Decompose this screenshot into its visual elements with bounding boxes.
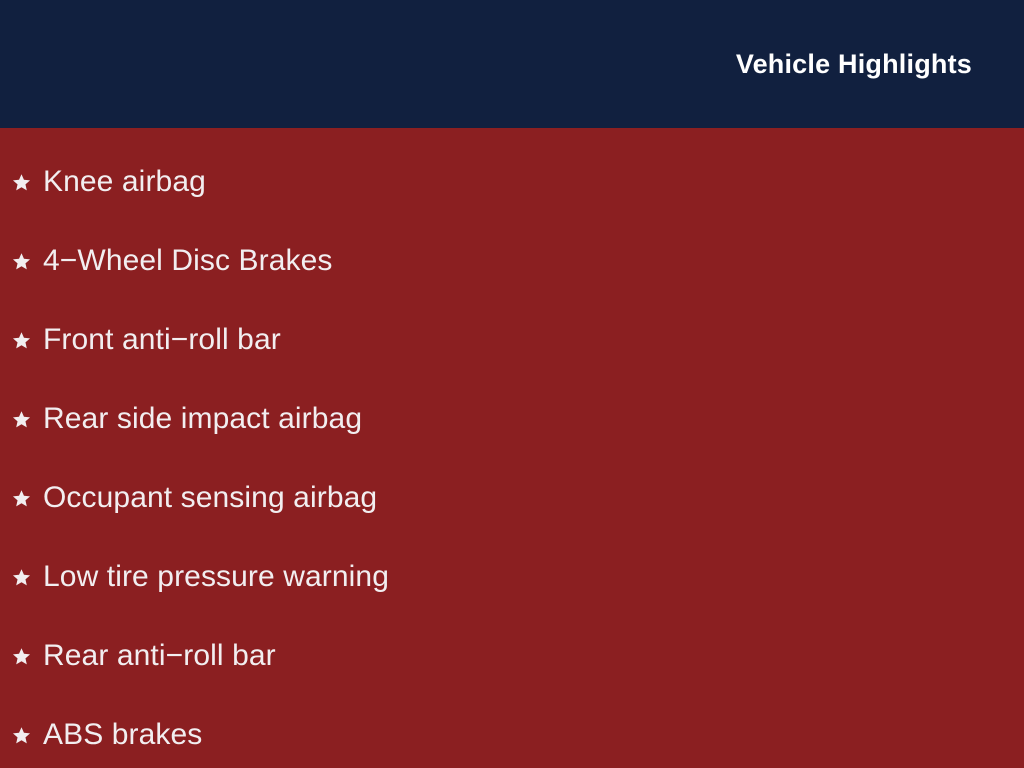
star-icon: [12, 252, 31, 271]
list-item-label: Rear anti−roll bar: [43, 639, 276, 673]
list-item: Occupant sensing airbag: [0, 458, 1024, 537]
list-item-label: ABS brakes: [43, 718, 202, 752]
vehicle-highlights-slide: Vehicle Highlights Knee airbag 4−Wheel D…: [0, 0, 1024, 768]
star-icon: [12, 647, 31, 666]
slide-header-band: Vehicle Highlights: [0, 0, 1024, 128]
list-item-label: Front anti−roll bar: [43, 323, 281, 357]
list-item: Low tire pressure warning: [0, 537, 1024, 616]
star-icon: [12, 173, 31, 192]
list-item: Knee airbag: [0, 142, 1024, 221]
star-icon: [12, 568, 31, 587]
star-icon: [12, 726, 31, 745]
page-title: Vehicle Highlights: [736, 44, 972, 84]
list-item: Rear anti−roll bar: [0, 616, 1024, 695]
star-icon: [12, 489, 31, 508]
star-icon: [12, 410, 31, 429]
list-item: Front anti−roll bar: [0, 300, 1024, 379]
list-item: 4−Wheel Disc Brakes: [0, 221, 1024, 300]
list-item-label: 4−Wheel Disc Brakes: [43, 244, 333, 278]
list-item-label: Knee airbag: [43, 165, 206, 199]
list-item-label: Occupant sensing airbag: [43, 481, 377, 515]
list-item: ABS brakes: [0, 695, 1024, 768]
vehicle-highlights-list: Knee airbag 4−Wheel Disc Brakes Front an…: [0, 142, 1024, 768]
list-item: Rear side impact airbag: [0, 379, 1024, 458]
list-item-label: Rear side impact airbag: [43, 402, 362, 436]
list-item-label: Low tire pressure warning: [43, 560, 389, 594]
highlights-body: Knee airbag 4−Wheel Disc Brakes Front an…: [0, 128, 1024, 768]
star-icon: [12, 331, 31, 350]
